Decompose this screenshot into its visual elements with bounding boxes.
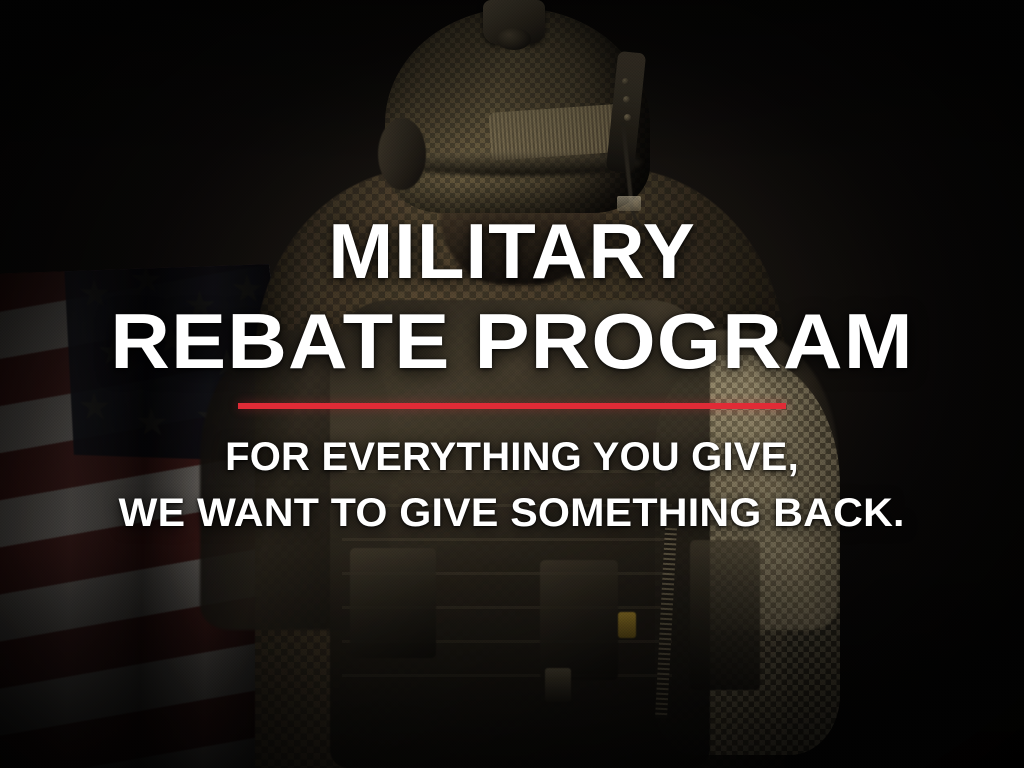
- text-overlay: MILITARY REBATE PROGRAM FOR EVERYTHING Y…: [0, 0, 1024, 768]
- headline-line-1: MILITARY: [133, 214, 891, 290]
- headline: MILITARY REBATE PROGRAM: [133, 0, 891, 379]
- subheadline-line-1: FOR EVERYTHING YOU GIVE,: [130, 435, 893, 480]
- headline-line-2: REBATE PROGRAM: [110, 304, 913, 380]
- military-rebate-poster: MILITARY REBATE PROGRAM FOR EVERYTHING Y…: [0, 0, 1024, 768]
- subheadline: FOR EVERYTHING YOU GIVE, WE WANT TO GIVE…: [130, 435, 893, 536]
- red-divider-rule: [238, 403, 786, 409]
- subheadline-line-2: WE WANT TO GIVE SOMETHING BACK.: [119, 491, 905, 536]
